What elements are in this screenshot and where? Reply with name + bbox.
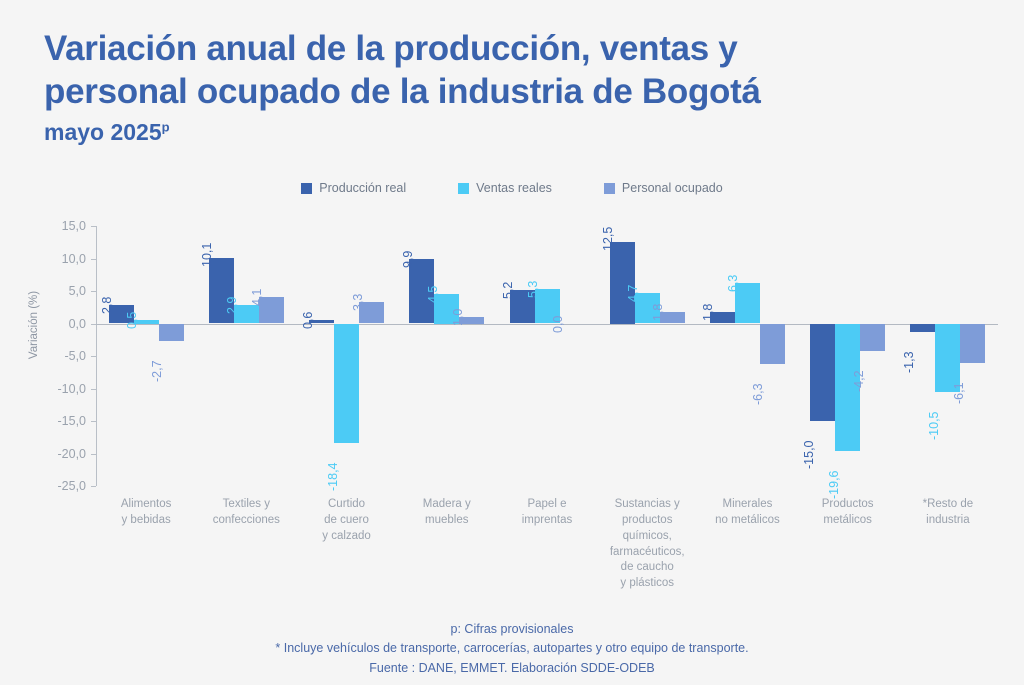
bar-value-label: 12,5 — [601, 227, 615, 251]
bar-value-label: 4,1 — [250, 288, 264, 305]
bar-value-label: 0,0 — [551, 315, 565, 332]
x-axis-category-label: Sustancias y productos químicos, farmacé… — [597, 497, 697, 592]
bar-value-label: 5,2 — [501, 281, 515, 298]
y-axis-tick-mark — [91, 454, 96, 455]
bar-value-label: 5,3 — [526, 281, 540, 298]
y-axis-tick-mark — [91, 324, 96, 325]
bar-value-label: 4,5 — [426, 286, 440, 303]
x-axis-category-label: Productos metálicos — [798, 497, 898, 529]
bar-value-label: -6,3 — [751, 384, 765, 406]
bar-value-label: -2,7 — [150, 361, 164, 383]
y-axis-tick-label: 15,0 — [34, 219, 86, 233]
bar-value-label: -10,5 — [927, 411, 941, 440]
bar-value-label: 1,0 — [451, 309, 465, 326]
bar — [860, 324, 885, 351]
bar — [960, 324, 985, 364]
bar-value-label: 3,3 — [351, 294, 365, 311]
y-axis-tick-label: -20,0 — [34, 447, 86, 461]
bar-value-label: 9,9 — [401, 251, 415, 268]
y-axis-tick-mark — [91, 486, 96, 487]
y-axis-tick-label: 10,0 — [34, 252, 86, 266]
footnote-line-1: p: Cifras provisionales — [0, 620, 1024, 639]
y-axis-tick-label: -25,0 — [34, 479, 86, 493]
y-axis-tick-mark — [91, 389, 96, 390]
y-axis-tick-label: -15,0 — [34, 414, 86, 428]
y-axis-tick-label: -10,0 — [34, 382, 86, 396]
bar-value-label: 1,8 — [701, 303, 715, 320]
y-axis-tick-mark — [91, 356, 96, 357]
y-axis-tick-label: 0,0 — [34, 317, 86, 331]
bar — [334, 324, 359, 444]
x-axis-category-label: Minerales no metálicos — [697, 497, 797, 529]
x-axis-category-label: Curtido de cuero y calzado — [296, 497, 396, 545]
bar — [760, 324, 785, 365]
bar-value-label: -6,1 — [952, 383, 966, 405]
footnote-line-2: * Incluye vehículos de transporte, carro… — [0, 639, 1024, 658]
y-axis-tick-mark — [91, 421, 96, 422]
chart-plot-area: Variación (%) 15,010,05,00,0-5,0-10,0-15… — [0, 0, 1024, 685]
y-axis-tick-label: -5,0 — [34, 349, 86, 363]
bar-value-label: -4,2 — [852, 370, 866, 392]
bar — [810, 324, 835, 422]
x-axis-category-label: Textiles y confecciones — [196, 497, 296, 529]
bar-value-label: 1,8 — [651, 303, 665, 320]
x-axis-category-label: Papel e imprentas — [497, 497, 597, 529]
y-axis-tick-mark — [91, 259, 96, 260]
y-axis-tick-mark — [91, 291, 96, 292]
bar-value-label: 10,1 — [200, 243, 214, 267]
y-axis-spine — [96, 226, 97, 486]
bar — [910, 324, 935, 332]
bar — [159, 324, 184, 342]
bar-value-label: 2,8 — [100, 297, 114, 314]
bar-value-label: -15,0 — [802, 441, 816, 470]
bar-value-label: -19,6 — [827, 470, 841, 499]
bar-value-label: 0,5 — [125, 312, 139, 329]
bar-value-label: 6,3 — [726, 274, 740, 291]
y-axis-tick-mark — [91, 226, 96, 227]
bar-value-label: -18,4 — [326, 463, 340, 492]
bar-value-label: 2,9 — [225, 296, 239, 313]
bar-value-label: 4,7 — [626, 285, 640, 302]
x-axis-category-label: Madera y muebles — [397, 497, 497, 529]
chart-footnotes: p: Cifras provisionales* Incluye vehícul… — [0, 620, 1024, 678]
bar — [610, 242, 635, 323]
y-axis-tick-label: 5,0 — [34, 284, 86, 298]
x-axis-category-label: Alimentos y bebidas — [96, 497, 196, 529]
footnote-line-3: Fuente : DANE, EMMET. Elaboración SDDE-O… — [0, 659, 1024, 678]
x-axis-category-label: *Resto de industria — [898, 497, 998, 529]
bar-value-label: -1,3 — [902, 351, 916, 373]
bar-value-label: 0,6 — [301, 311, 315, 328]
